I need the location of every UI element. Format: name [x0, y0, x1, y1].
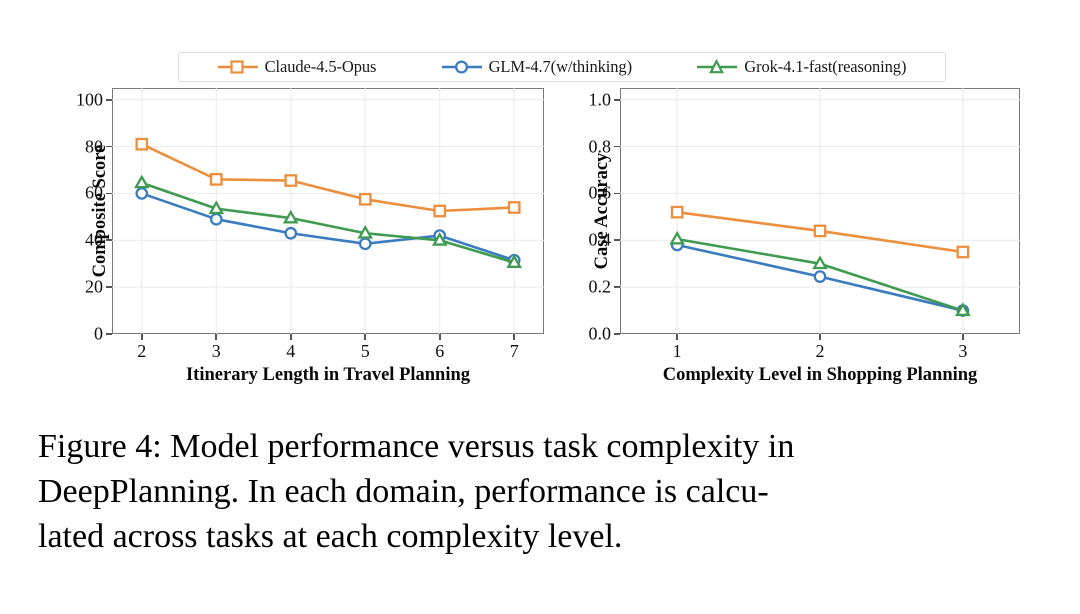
data-point-marker: [137, 188, 147, 198]
x-axis-title-left: Itinerary Length in Travel Planning: [186, 365, 470, 386]
legend-swatch-square-icon: [218, 59, 258, 75]
y-tick-mark: [106, 333, 112, 335]
x-axis-title-right: Complexity Level in Shopping Planning: [663, 365, 978, 386]
data-point-marker: [815, 271, 825, 281]
caption-line-1: Figure 4: Model performance versus task …: [38, 424, 1044, 469]
data-point-marker: [815, 226, 825, 236]
caption-line-3: lated across tasks at each complexity le…: [38, 514, 1044, 559]
x-tick-label: 3: [212, 341, 221, 362]
data-point-marker: [137, 139, 147, 149]
plot-area-right: [620, 88, 1020, 334]
legend-swatch-triangle-icon: [697, 59, 737, 75]
x-tick-mark: [364, 334, 366, 340]
x-tick-mark: [962, 334, 964, 340]
data-point-marker: [671, 233, 683, 243]
y-tick-mark: [614, 193, 620, 195]
data-point-marker: [814, 258, 826, 268]
data-point-marker: [136, 177, 148, 187]
data-point-marker: [360, 239, 370, 249]
data-point-marker: [210, 203, 222, 213]
y-tick-mark: [614, 99, 620, 101]
chart-legend: Claude-4.5-Opus GLM-4.7(w/thinking) Grok…: [178, 52, 946, 82]
caption-line-2: DeepPlanning. In each domain, performanc…: [38, 469, 1044, 514]
x-tick-mark: [141, 334, 143, 340]
data-point-marker: [211, 214, 221, 224]
figure-4: Claude-4.5-Opus GLM-4.7(w/thinking) Grok…: [0, 0, 1080, 400]
x-tick-label: 4: [286, 341, 295, 362]
x-tick-mark: [439, 334, 441, 340]
legend-swatch-circle-icon: [442, 59, 482, 75]
x-tick-label: 1: [673, 341, 682, 362]
x-tick-label: 7: [510, 341, 519, 362]
x-tick-label: 3: [958, 341, 967, 362]
x-tick-label: 2: [816, 341, 825, 362]
y-tick-mark: [614, 286, 620, 288]
chart-shopping-planning: 0.00.20.40.60.81.0 123 Complexity Level …: [620, 88, 1020, 334]
legend-entry-glm: GLM-4.7(w/thinking): [442, 57, 632, 77]
y-tick-mark: [106, 286, 112, 288]
data-point-marker: [286, 175, 296, 185]
series-line-2: [142, 183, 514, 263]
y-axis-title-right: Case Accuracy: [592, 153, 613, 270]
y-tick-label: 0.2: [589, 277, 612, 298]
legend-entry-grok: Grok-4.1-fast(reasoning): [697, 57, 906, 77]
plot-area-left: [112, 88, 544, 334]
y-tick-label: 1.0: [589, 89, 612, 110]
data-point-marker: [211, 174, 221, 184]
y-tick-mark: [614, 333, 620, 335]
y-tick-label: 20: [85, 277, 103, 298]
data-point-marker: [286, 228, 296, 238]
data-point-marker: [958, 247, 968, 257]
legend-label-glm: GLM-4.7(w/thinking): [489, 57, 632, 77]
y-tick-mark: [614, 146, 620, 148]
data-point-marker: [285, 212, 297, 222]
y-tick-label: 100: [76, 89, 103, 110]
y-tick-label: 0: [94, 324, 103, 345]
x-tick-mark: [290, 334, 292, 340]
data-point-marker: [359, 227, 371, 237]
figure-caption: Figure 4: Model performance versus task …: [38, 424, 1044, 559]
data-point-marker: [360, 194, 370, 204]
data-point-marker: [509, 202, 519, 212]
y-tick-label: 0.0: [589, 324, 612, 345]
y-axis-title-left: Composite Score: [90, 145, 111, 278]
x-tick-mark: [215, 334, 217, 340]
x-tick-mark: [676, 334, 678, 340]
x-tick-label: 5: [361, 341, 370, 362]
x-tick-label: 6: [435, 341, 444, 362]
x-tick-mark: [513, 334, 515, 340]
legend-label-grok: Grok-4.1-fast(reasoning): [744, 57, 906, 77]
data-point-marker: [435, 206, 445, 216]
data-point-marker: [672, 207, 682, 217]
legend-entry-claude: Claude-4.5-Opus: [218, 57, 377, 77]
chart-travel-planning: 020406080100 234567 Itinerary Length in …: [112, 88, 544, 334]
legend-label-claude: Claude-4.5-Opus: [265, 57, 377, 77]
y-tick-mark: [614, 239, 620, 241]
x-tick-label: 2: [137, 341, 146, 362]
y-tick-mark: [106, 99, 112, 101]
x-tick-mark: [819, 334, 821, 340]
